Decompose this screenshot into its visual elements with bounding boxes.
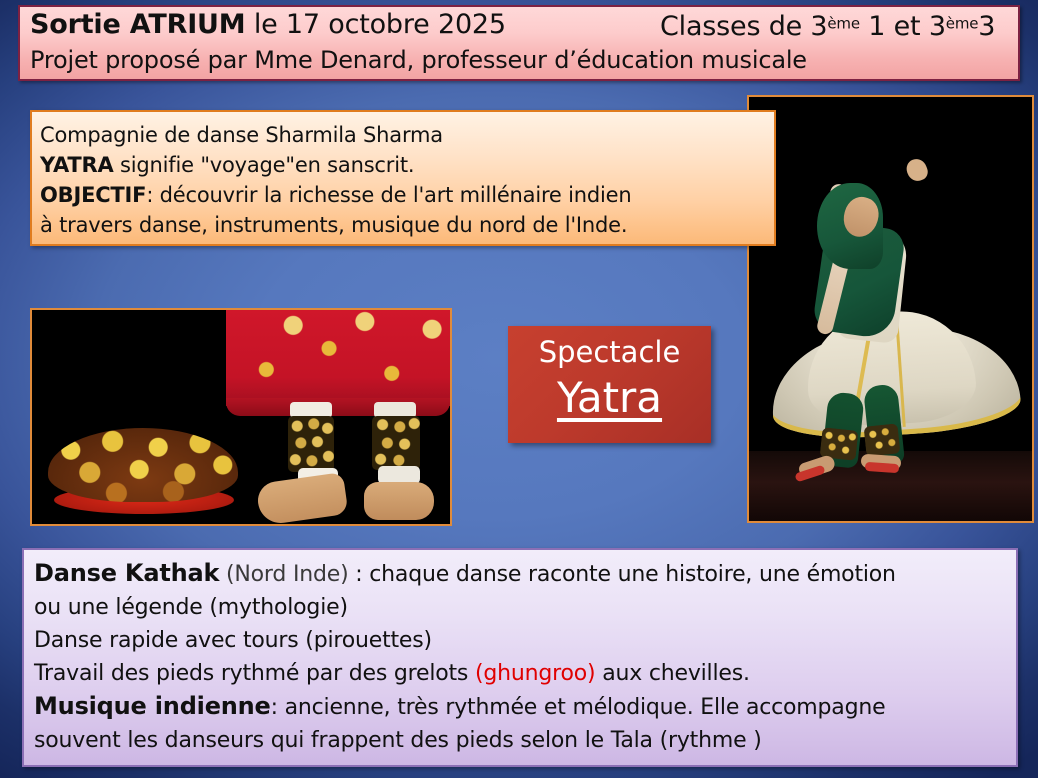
header-classes: Classes de 3ème 1 et 3ème3 bbox=[660, 11, 995, 42]
spectacle-badge: Spectacle Yatra bbox=[508, 326, 711, 443]
info-line-5: Musique indienne: ancienne, très rythmée… bbox=[34, 690, 1016, 724]
right-bare-foot bbox=[364, 482, 434, 520]
objective-line-3: OBJECTIF: découvrir la richesse de l'art… bbox=[40, 180, 774, 210]
objective-line-2: YATRA signifie "voyage"en sanscrit. bbox=[40, 150, 774, 180]
header-title-date: le 17 octobre 2025 bbox=[245, 9, 505, 40]
header-classes-sup-2: ème bbox=[946, 15, 978, 33]
objective-line-1: Compagnie de danse Sharmila Sharma bbox=[40, 120, 774, 150]
objective-yatra-label: YATRA bbox=[40, 153, 114, 177]
info-line-1: Danse Kathak (Nord Inde) : chaque danse … bbox=[34, 557, 1016, 591]
objective-line-4: à travers danse, instruments, musique du… bbox=[40, 210, 774, 240]
objective-box: Compagnie de danse Sharmila Sharma YATRA… bbox=[30, 110, 776, 246]
spectacle-label: Spectacle bbox=[508, 332, 711, 372]
right-ankle-ghungroo bbox=[372, 416, 420, 470]
info-box: Danse Kathak (Nord Inde) : chaque danse … bbox=[22, 548, 1018, 767]
header-subtitle: Projet proposé par Mme Denard, professeu… bbox=[30, 46, 807, 74]
header-banner: Sortie ATRIUM le 17 octobre 2025 Classes… bbox=[18, 5, 1020, 81]
header-classes-prefix: Classes de 3 bbox=[660, 11, 827, 42]
header-classes-sup-1: ème bbox=[827, 15, 859, 33]
left-bare-foot bbox=[256, 472, 349, 526]
dancer-photo bbox=[747, 95, 1034, 523]
info-footwork-text-b: aux chevilles. bbox=[595, 661, 749, 686]
red-skirt-hem bbox=[226, 398, 450, 416]
left-ankle-ghungroo bbox=[288, 416, 334, 472]
header-classes-suffix: 3 bbox=[978, 11, 995, 42]
ghungroo-bell-pile bbox=[48, 428, 238, 502]
header-subtitle-row: Projet proposé par Mme Denard, professeu… bbox=[30, 46, 1010, 80]
objective-objectif-label: OBJECTIF bbox=[40, 183, 146, 207]
dancer-photo-stage bbox=[749, 97, 1032, 521]
red-skirt bbox=[226, 310, 450, 406]
objective-yatra-text: signifie "voyage"en sanscrit. bbox=[114, 153, 415, 177]
info-kathak-text: : chaque danse raconte une histoire, une… bbox=[355, 562, 896, 587]
info-line-2: ou une légende (mythologie) bbox=[34, 591, 1016, 624]
ghungroo-photo bbox=[30, 308, 452, 526]
info-kathak-label: Danse Kathak bbox=[34, 559, 219, 587]
header-title-row: Sortie ATRIUM le 17 octobre 2025 Classes… bbox=[30, 9, 1010, 45]
ghungroo-photo-stage bbox=[32, 310, 450, 524]
header-classes-mid: 1 et 3 bbox=[860, 11, 946, 42]
info-music-text: : ancienne, très rythmée et mélodique. E… bbox=[271, 695, 886, 720]
slide-canvas: Sortie ATRIUM le 17 octobre 2025 Classes… bbox=[0, 0, 1038, 778]
info-line-3: Danse rapide avec tours (pirouettes) bbox=[34, 624, 1016, 657]
header-title-bold: Sortie ATRIUM bbox=[30, 9, 245, 40]
info-line-4: Travail des pieds rythmé par des grelots… bbox=[34, 657, 1016, 690]
info-kathak-region: (Nord Inde) bbox=[219, 562, 355, 587]
dancer-hand bbox=[904, 156, 930, 184]
info-line-6: souvent les danseurs qui frappent des pi… bbox=[34, 724, 1016, 757]
info-footwork-text-a: Travail des pieds rythmé par des grelots bbox=[34, 661, 475, 686]
info-ghungroo-highlight: (ghungroo) bbox=[475, 661, 595, 686]
objective-objectif-text: : découvrir la richesse de l'art milléna… bbox=[146, 183, 631, 207]
spectacle-title: Yatra bbox=[508, 372, 711, 424]
info-music-label: Musique indienne bbox=[34, 692, 271, 720]
dancer-right-ankle-bells bbox=[864, 423, 901, 456]
